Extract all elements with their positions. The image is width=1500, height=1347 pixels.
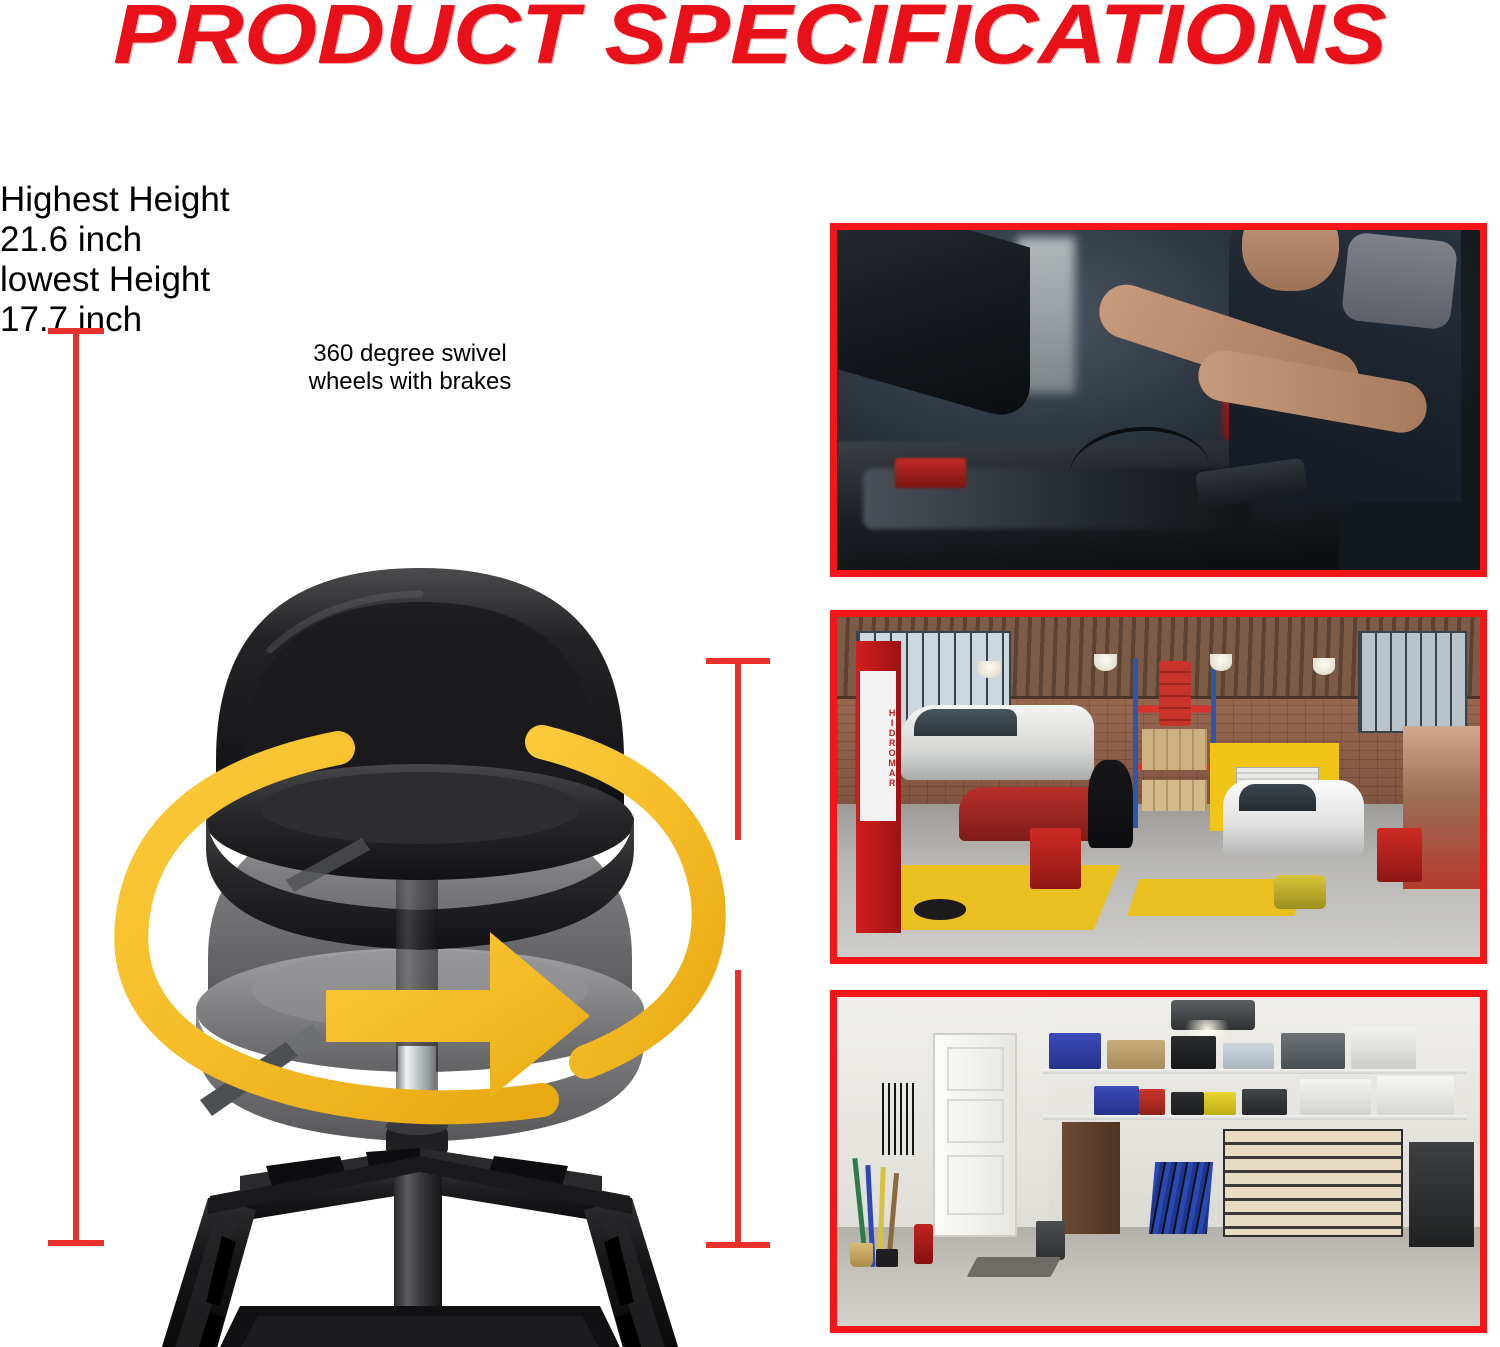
lowest-height-value: 17.7 inch [0, 300, 820, 340]
highest-height-value: 21.6 inch [0, 220, 820, 260]
photo-column: HIDROMAR [830, 223, 1487, 1333]
product-illustration-area: Highest Height 21.6 inch lowest Height 1… [0, 180, 820, 1347]
swivel-caption-line-1: 360 degree swivel [0, 340, 820, 368]
product-specifications-infographic: PRODUCT SPECIFICATIONS [0, 0, 1500, 1347]
photo-mechanic-testing-car-battery [830, 223, 1487, 577]
swivel-caption-line-2: wheels with brakes [0, 368, 820, 396]
garage-entry-door [933, 1033, 1017, 1237]
rolling-shop-stool-illustration [90, 450, 750, 1347]
page-title: PRODUCT SPECIFICATIONS [0, 0, 1500, 76]
highest-height-label: Highest Height 21.6 inch [0, 180, 820, 260]
lift-brand-sign: HIDROMAR [860, 671, 896, 821]
lowest-height-text: lowest Height [0, 260, 820, 300]
lowest-height-label: lowest Height 17.7 inch [0, 260, 820, 340]
highest-height-text: Highest Height [0, 180, 820, 220]
swivel-wheels-caption: 360 degree swivel wheels with brakes [0, 340, 820, 397]
photo-home-garage-storage [830, 990, 1487, 1333]
photo-auto-repair-shop-interior: HIDROMAR [830, 610, 1487, 964]
highest-dimension-line [73, 328, 79, 1246]
